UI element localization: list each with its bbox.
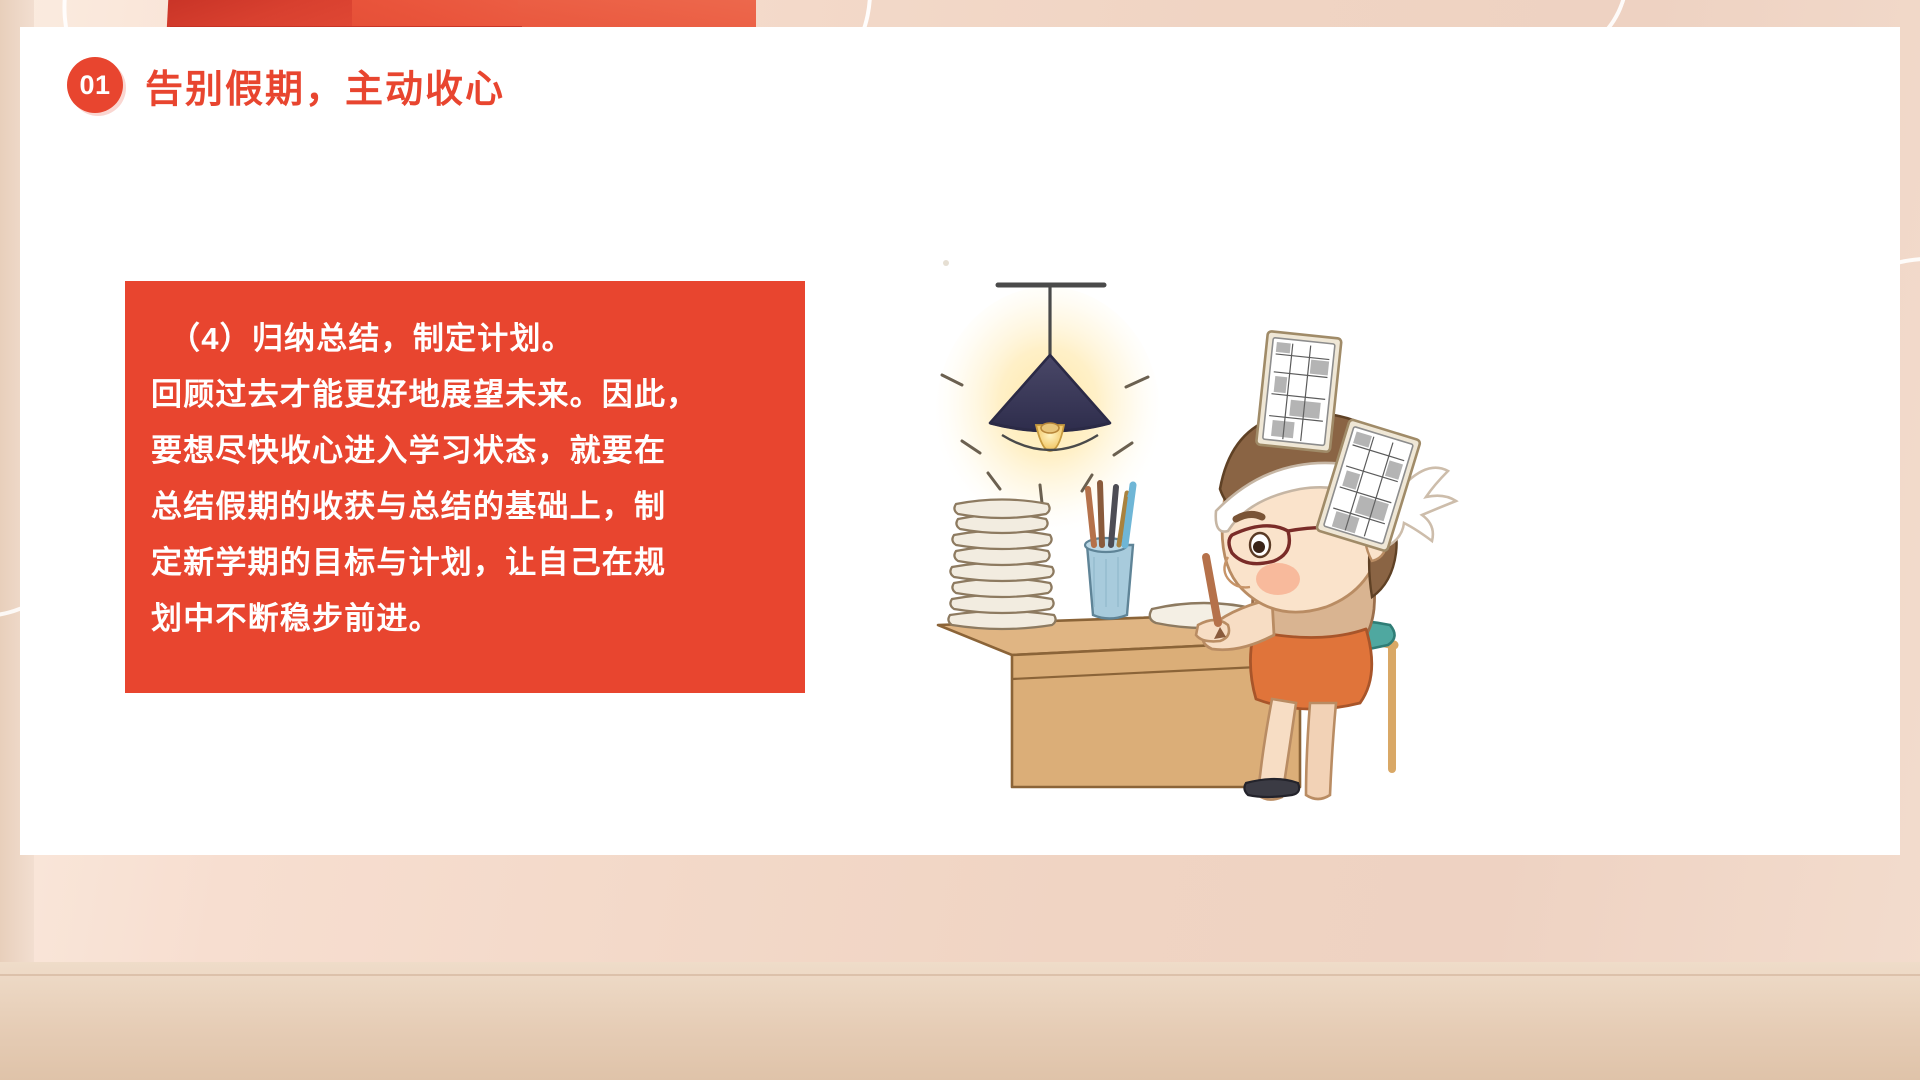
- floor-strip: [0, 962, 1920, 1080]
- content-line: （4）归纳总结，制定计划。: [151, 311, 779, 367]
- boy-shorts: [1250, 629, 1371, 709]
- floor-line: [0, 974, 1920, 976]
- cheek-blush: [1256, 563, 1300, 595]
- content-line: 回顾过去才能更好地展望未来。因此，: [151, 367, 779, 423]
- boy-pupil: [1253, 541, 1265, 553]
- section-header: 01 告别假期，主动收心: [67, 57, 505, 113]
- book-stack: [948, 500, 1055, 630]
- floating-comic-card-1: [1256, 331, 1342, 452]
- content-line: 总结假期的收获与总结的基础上，制: [151, 479, 779, 535]
- pencil-cup: [1085, 538, 1133, 619]
- boy-sandal: [1244, 779, 1299, 797]
- studying-boy-illustration: [880, 227, 1500, 787]
- content-line: 定新学期的目标与计划，让自己在规: [151, 535, 779, 591]
- boy-leg-back: [1306, 703, 1336, 799]
- section-number-badge: 01: [67, 57, 123, 113]
- slide-content-card: 01 告别假期，主动收心 （4）归纳总结，制定计划。 回顾过去才能更好地展望未来…: [20, 27, 1900, 855]
- bulb-base: [1041, 423, 1059, 433]
- content-line: 划中不断稳步前进。: [151, 591, 779, 647]
- decor-dot: [943, 260, 949, 266]
- content-line: 要想尽快收心进入学习状态，就要在: [151, 423, 779, 479]
- content-text-box: （4）归纳总结，制定计划。 回顾过去才能更好地展望未来。因此， 要想尽快收心进入…: [125, 281, 805, 693]
- boy-hand: [1196, 620, 1229, 641]
- page-title: 告别假期，主动收心: [145, 58, 505, 113]
